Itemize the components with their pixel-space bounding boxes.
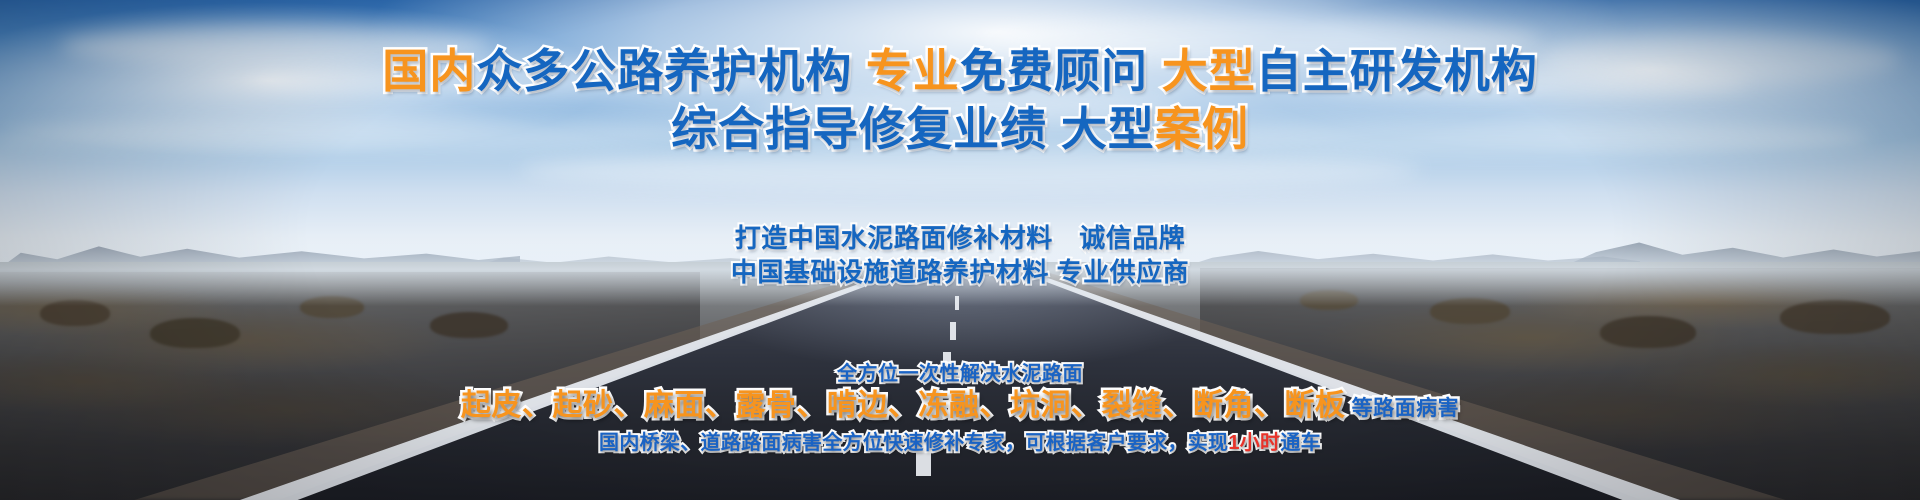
bottom-text-3-prefix: 国内桥梁、道路路面病害全方位快速修补专家，可根据客户要求，实现	[599, 432, 1228, 454]
headline-line-1: 国内众多公路养护机构 专业免费顾问 大型自主研发机构	[0, 44, 1920, 99]
bottom-line-2: 起皮、起砂、麻面、露骨、啃边、冻融、坑洞、裂缝、断角、断板 等路面病害	[0, 387, 1920, 428]
subtitle-line-1: 打造中国水泥路面修补材料 诚信品牌	[0, 222, 1920, 255]
headline-seg-zonghe: 综合指导修复业绩	[671, 103, 1047, 155]
bottom-text-block: 全方位一次性解决水泥路面 起皮、起砂、麻面、露骨、啃边、冻融、坑洞、裂缝、断角、…	[0, 362, 1920, 456]
subtitle-text-2: 中国基础设施道路养护材料 专业供应商	[731, 257, 1189, 287]
headline-seg-zhuanye: 专业	[866, 45, 960, 97]
headline-seg-zhongduo: 众多公路养护机构	[476, 45, 852, 97]
bottom-line-1: 全方位一次性解决水泥路面	[0, 362, 1920, 386]
headline-gap-2	[1148, 45, 1162, 97]
headline-gap-1	[852, 45, 866, 97]
bottom-line-3: 国内桥梁、道路路面病害全方位快速修补专家，可根据客户要求，实现1小时通车	[0, 430, 1920, 456]
one-hour-highlight: 1小时	[1228, 432, 1280, 454]
bottom-text-3-suffix: 通车	[1280, 432, 1321, 454]
headline-gap-3	[1047, 103, 1061, 155]
headline-seg-guonei: 国内	[382, 45, 476, 97]
headline: 国内众多公路养护机构 专业免费顾问 大型自主研发机构 综合指导修复业绩 大型案例	[0, 44, 1920, 157]
subtitle-line-2: 中国基础设施道路养护材料 专业供应商	[0, 256, 1920, 289]
headline-seg-zizhu: 自主研发机构	[1256, 45, 1538, 97]
headline-line-2: 综合指导修复业绩 大型案例	[0, 102, 1920, 157]
defect-list: 起皮、起砂、麻面、露骨、啃边、冻融、坑洞、裂缝、断角、断板	[461, 389, 1346, 422]
bottom-text-1: 全方位一次性解决水泥路面	[837, 363, 1083, 385]
headline-seg-mianfei: 免费顾问	[960, 45, 1148, 97]
headline-seg-anli: 案例	[1155, 103, 1249, 155]
headline-seg-daxing-2: 大型	[1061, 103, 1155, 155]
headline-seg-daxing: 大型	[1162, 45, 1256, 97]
subtitle: 打造中国水泥路面修补材料 诚信品牌 中国基础设施道路养护材料 专业供应商	[0, 222, 1920, 289]
promo-banner: 国内众多公路养护机构 专业免费顾问 大型自主研发机构 综合指导修复业绩 大型案例…	[0, 0, 1920, 500]
defect-list-suffix: 等路面病害	[1345, 397, 1459, 420]
subtitle-text-1: 打造中国水泥路面修补材料 诚信品牌	[735, 223, 1186, 253]
text-overlay: 国内众多公路养护机构 专业免费顾问 大型自主研发机构 综合指导修复业绩 大型案例…	[0, 0, 1920, 500]
